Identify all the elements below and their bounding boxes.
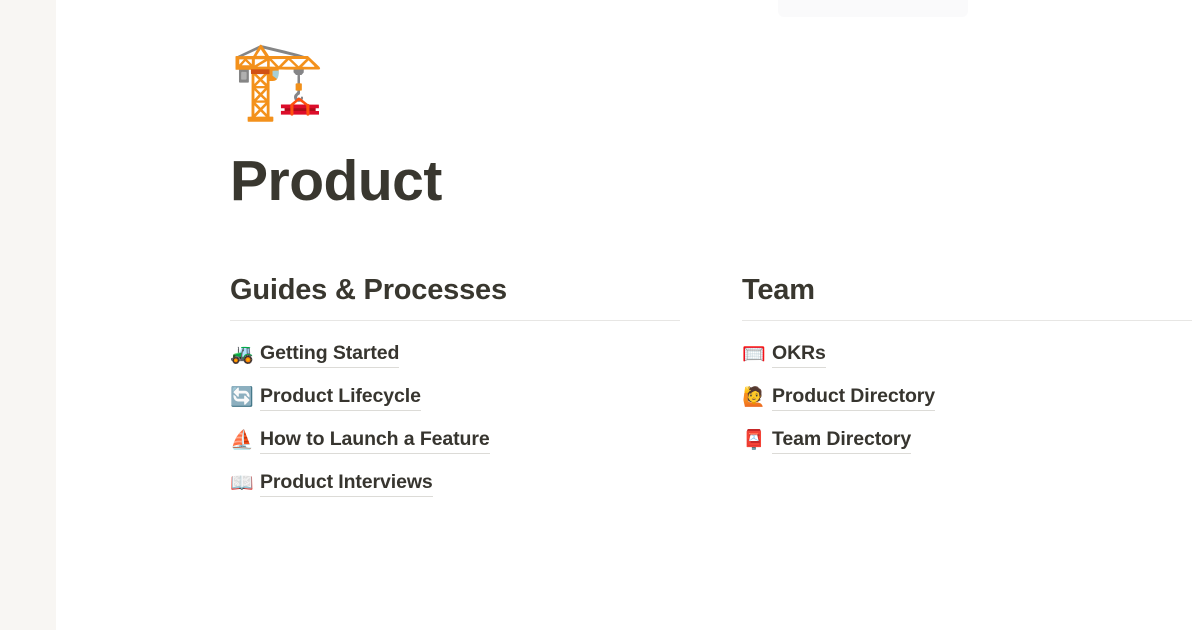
link-label[interactable]: Product Directory bbox=[772, 385, 935, 410]
link-label[interactable]: OKRs bbox=[772, 342, 826, 367]
link-label[interactable]: Team Directory bbox=[772, 428, 911, 453]
person-raising-hand-emoji: 🙋 bbox=[742, 388, 772, 407]
link-label[interactable]: How to Launch a Feature bbox=[260, 428, 490, 453]
link-item-okrs[interactable]: 🥅 OKRs bbox=[742, 336, 1192, 373]
link-item-team-directory[interactable]: 📮 Team Directory bbox=[742, 422, 1192, 459]
page-icon-emoji[interactable]: 🏗️ bbox=[230, 42, 1200, 138]
section-heading-guides-and-processes: Guides & Processes bbox=[230, 273, 680, 308]
section-columns: Guides & Processes 🚜 Getting Started 🔄 P… bbox=[230, 273, 1200, 503]
arrows-counterclockwise-emoji: 🔄 bbox=[230, 388, 260, 407]
postbox-emoji: 📮 bbox=[742, 431, 772, 450]
goal-net-emoji: 🥅 bbox=[742, 345, 772, 364]
link-list-team: 🥅 OKRs 🙋 Product Directory 📮 Team Direct… bbox=[742, 336, 1192, 459]
section-divider bbox=[230, 320, 680, 321]
link-label[interactable]: Product Interviews bbox=[260, 471, 433, 496]
link-item-product-lifecycle[interactable]: 🔄 Product Lifecycle bbox=[230, 379, 680, 416]
page-root: 🏗️ Product Guides & Processes 🚜 Getting … bbox=[0, 0, 1200, 630]
page-body: 🏗️ Product Guides & Processes 🚜 Getting … bbox=[230, 0, 1200, 502]
section-guides-and-processes: Guides & Processes 🚜 Getting Started 🔄 P… bbox=[230, 273, 680, 503]
link-item-how-to-launch-a-feature[interactable]: ⛵ How to Launch a Feature bbox=[230, 422, 680, 459]
link-item-product-directory[interactable]: 🙋 Product Directory bbox=[742, 379, 1192, 416]
main-content: 🏗️ Product Guides & Processes 🚜 Getting … bbox=[56, 0, 1200, 630]
section-divider bbox=[742, 320, 1192, 321]
link-item-product-interviews[interactable]: 📖 Product Interviews bbox=[230, 465, 680, 502]
link-list-guides-and-processes: 🚜 Getting Started 🔄 Product Lifecycle ⛵ … bbox=[230, 336, 680, 502]
left-sidebar[interactable] bbox=[0, 0, 56, 630]
link-label[interactable]: Product Lifecycle bbox=[260, 385, 421, 410]
link-item-getting-started[interactable]: 🚜 Getting Started bbox=[230, 336, 680, 373]
sailboat-emoji: ⛵ bbox=[230, 431, 260, 450]
tractor-emoji: 🚜 bbox=[230, 345, 260, 364]
section-heading-team: Team bbox=[742, 273, 1192, 308]
link-label[interactable]: Getting Started bbox=[260, 342, 399, 367]
page-title: Product bbox=[230, 150, 1200, 213]
open-book-emoji: 📖 bbox=[230, 474, 260, 493]
section-team: Team 🥅 OKRs 🙋 Product Directory 📮 bbox=[742, 273, 1192, 503]
